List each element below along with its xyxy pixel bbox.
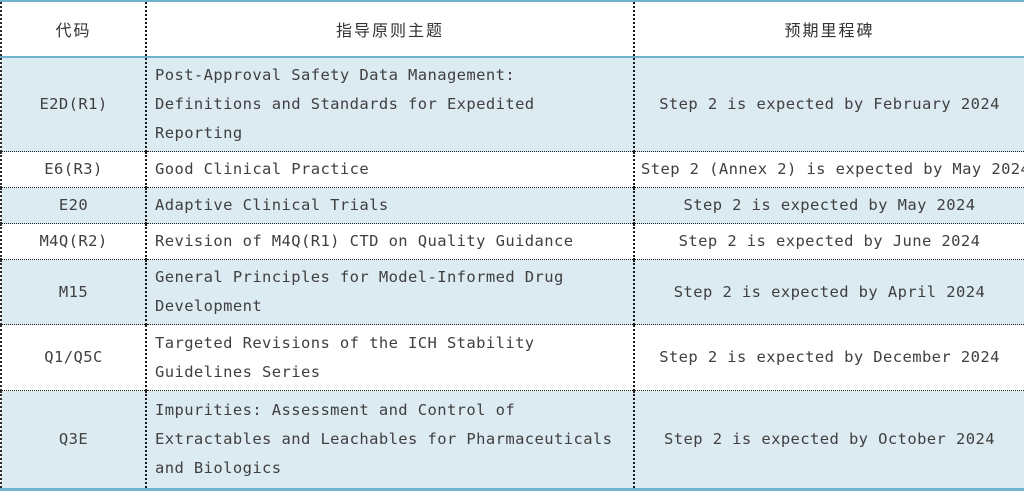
table-row: M15 General Principles for Model-Informe… [1, 260, 1024, 325]
cell-code: E6(R3) [1, 152, 146, 188]
cell-topic: Revision of M4Q(R1) CTD on Quality Guida… [146, 224, 634, 260]
cell-topic: Adaptive Clinical Trials [146, 188, 634, 224]
cell-milestone: Step 2 is expected by October 2024 [634, 391, 1024, 490]
table-body: E2D(R1) Post-Approval Safety Data Manage… [1, 57, 1024, 490]
table-header: 代码 指导原则主题 预期里程碑 [1, 1, 1024, 57]
topic-line: Good Clinical Practice [155, 155, 627, 184]
cell-topic: General Principles for Model-Informed Dr… [146, 260, 634, 325]
table-row: Q1/Q5C Targeted Revisions of the ICH Sta… [1, 325, 1024, 391]
topic-line: Extractables and Leachables for Pharmace… [155, 425, 627, 454]
cell-code: Q1/Q5C [1, 325, 146, 391]
cell-topic: Post-Approval Safety Data Management: De… [146, 57, 634, 152]
topic-line: Definitions and Standards for Expedited [155, 90, 627, 119]
cell-milestone: Step 2 is expected by February 2024 [634, 57, 1024, 152]
cell-code: Q3E [1, 391, 146, 490]
table-row: E2D(R1) Post-Approval Safety Data Manage… [1, 57, 1024, 152]
cell-milestone: Step 2 is expected by May 2024 [634, 188, 1024, 224]
cell-topic: Good Clinical Practice [146, 152, 634, 188]
topic-line: Adaptive Clinical Trials [155, 191, 627, 220]
cell-milestone: Step 2 is expected by June 2024 [634, 224, 1024, 260]
table-row: Q3E Impurities: Assessment and Control o… [1, 391, 1024, 490]
table-row: E6(R3) Good Clinical Practice Step 2 (An… [1, 152, 1024, 188]
column-header-code: 代码 [1, 1, 146, 57]
cell-code: E2D(R1) [1, 57, 146, 152]
topic-line: Revision of M4Q(R1) CTD on Quality Guida… [155, 227, 627, 256]
ich-guidelines-table: 代码 指导原则主题 预期里程碑 E2D(R1) Post-Approval Sa… [0, 0, 1024, 491]
topic-line: Reporting [155, 119, 627, 148]
cell-milestone: Step 2 (Annex 2) is expected by May 2024 [634, 152, 1024, 188]
topic-line: Guidelines Series [155, 358, 627, 387]
topic-line: General Principles for Model-Informed Dr… [155, 263, 627, 292]
cell-milestone: Step 2 is expected by December 2024 [634, 325, 1024, 391]
topic-line: Post-Approval Safety Data Management: [155, 61, 627, 90]
cell-topic: Impurities: Assessment and Control of Ex… [146, 391, 634, 490]
cell-topic: Targeted Revisions of the ICH Stability … [146, 325, 634, 391]
topic-line: Development [155, 292, 627, 321]
column-header-topic: 指导原则主题 [146, 1, 634, 57]
topic-line: Impurities: Assessment and Control of [155, 396, 627, 425]
column-header-milestone: 预期里程碑 [634, 1, 1024, 57]
table-header-row: 代码 指导原则主题 预期里程碑 [1, 1, 1024, 57]
topic-line: and Biologics [155, 454, 627, 483]
ich-guidelines-table-container: 代码 指导原则主题 预期里程碑 E2D(R1) Post-Approval Sa… [0, 0, 1024, 477]
cell-code: M15 [1, 260, 146, 325]
cell-code: M4Q(R2) [1, 224, 146, 260]
table-row: M4Q(R2) Revision of M4Q(R1) CTD on Quali… [1, 224, 1024, 260]
cell-milestone: Step 2 is expected by April 2024 [634, 260, 1024, 325]
topic-line: Targeted Revisions of the ICH Stability [155, 329, 627, 358]
cell-code: E20 [1, 188, 146, 224]
table-row: E20 Adaptive Clinical Trials Step 2 is e… [1, 188, 1024, 224]
